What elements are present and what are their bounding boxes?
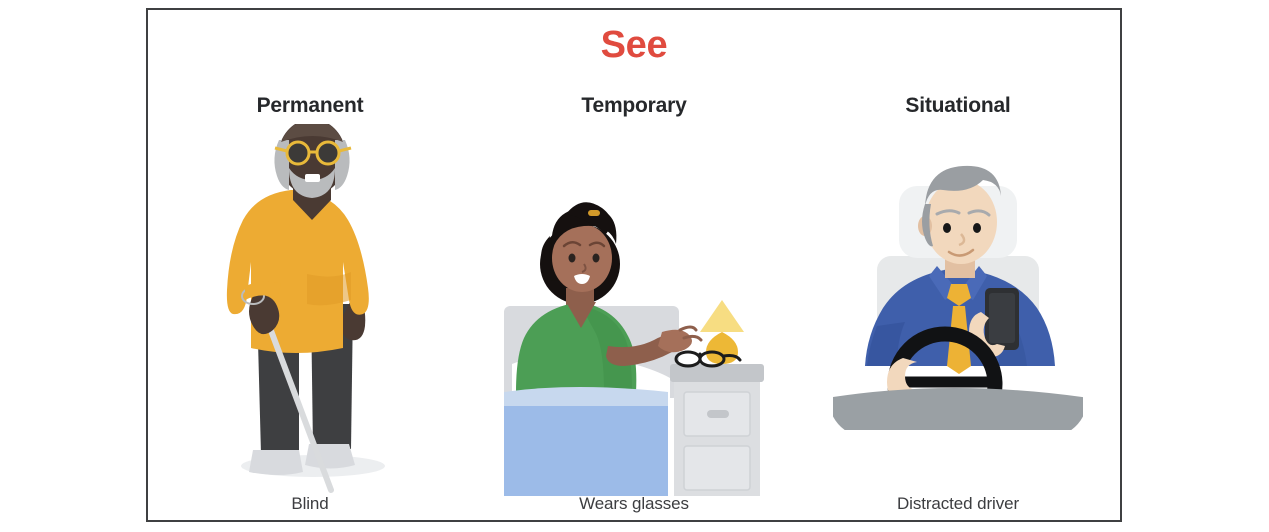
blind-man-with-white-cane-illustration (195, 124, 425, 494)
drawer-handle-1 (707, 410, 729, 418)
distracted-driver-illustration (833, 160, 1083, 430)
columns-row: Permanent (148, 90, 1120, 520)
caption-permanent: Blind (291, 494, 328, 513)
hand-reaching (658, 330, 692, 353)
blanket-body (504, 406, 668, 496)
page-title: See (148, 24, 1120, 67)
blanket-fold (504, 387, 668, 408)
column-header-temporary: Temporary (581, 94, 686, 118)
column-temporary: Temporary (472, 90, 796, 520)
captions-row: Blind Wears glasses Distracted driver (148, 494, 1120, 514)
caption-cell-temporary: Wears glasses (472, 494, 796, 514)
column-header-situational: Situational (905, 94, 1010, 118)
head (925, 180, 997, 264)
eye-left (569, 254, 576, 263)
woman-in-bed-reaching-for-glasses-illustration (504, 196, 764, 526)
slide-frame: See Permanent (146, 8, 1122, 522)
caption-cell-permanent: Blind (148, 494, 472, 514)
column-permanent: Permanent (148, 90, 472, 520)
lamp-shade (700, 300, 744, 332)
caption-cell-situational: Distracted driver (796, 494, 1120, 514)
column-situational: Situational (796, 90, 1120, 520)
eye-right (973, 223, 981, 233)
shoe-left (249, 450, 303, 475)
mouth (305, 174, 320, 182)
column-header-permanent: Permanent (257, 94, 364, 118)
eye-right (593, 254, 600, 263)
illustration-permanent-wrap (148, 118, 472, 520)
eye-left (943, 223, 951, 233)
caption-situational: Distracted driver (897, 494, 1019, 513)
illustration-situational-wrap (796, 118, 1120, 520)
caption-temporary: Wears glasses (579, 494, 689, 513)
dashboard (833, 388, 1083, 430)
lamp-base (706, 332, 738, 364)
phone-screen (989, 293, 1015, 343)
nightstand-drawer-2 (684, 446, 750, 490)
sunglass-lens-left (287, 142, 309, 164)
hair-clip (588, 210, 600, 216)
finger-1 (680, 327, 696, 330)
illustration-temporary-wrap (472, 118, 796, 520)
sweater-shade (307, 272, 351, 305)
sunglass-lens-right (317, 142, 339, 164)
eyeglass-lens-left (676, 352, 700, 366)
slide-page: See Permanent (0, 0, 1269, 532)
